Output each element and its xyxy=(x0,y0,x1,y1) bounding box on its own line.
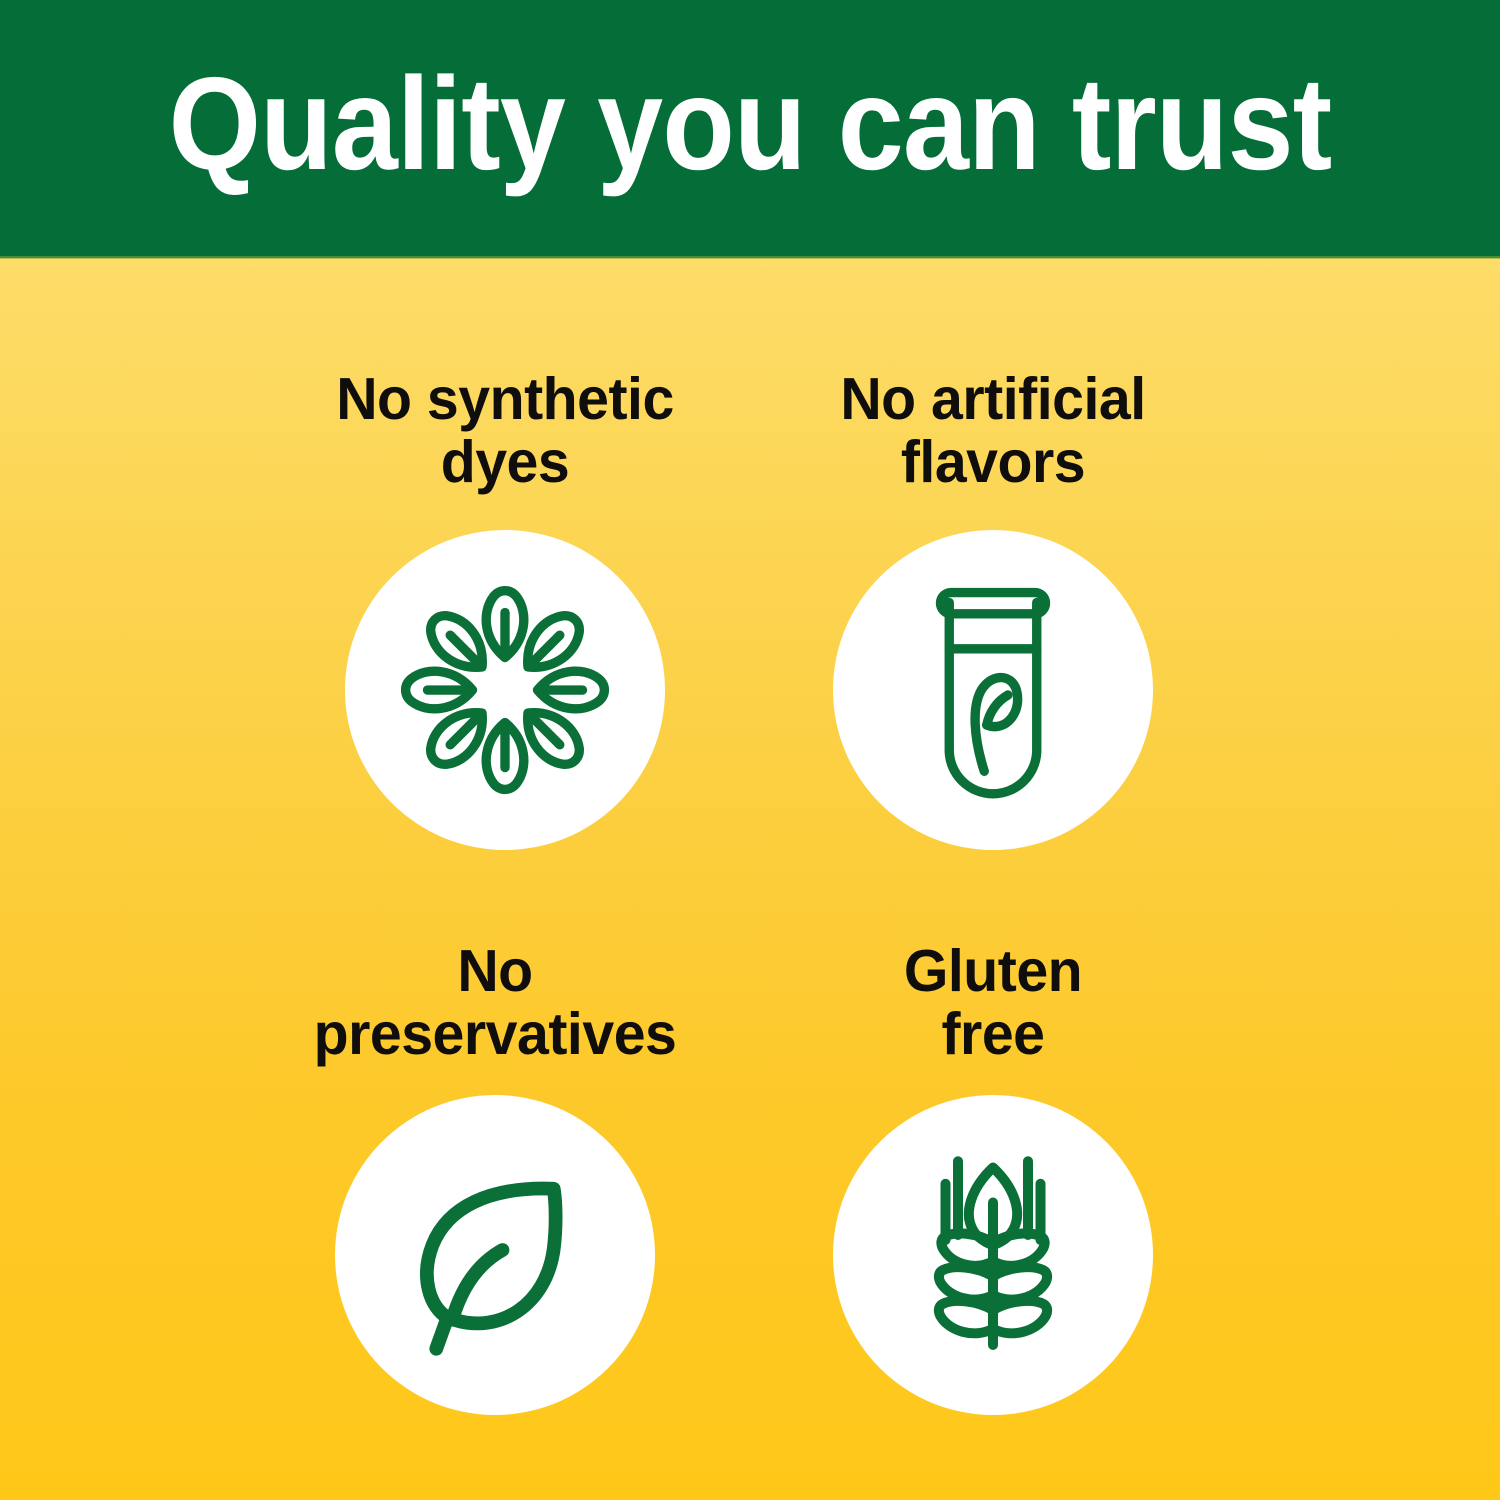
quality-infographic: Quality you can trust No synthetic dyes xyxy=(0,0,1500,1500)
feature-label: Gluten free xyxy=(702,940,1284,1065)
test-tube-leaf-icon xyxy=(868,565,1118,815)
feature-badge xyxy=(833,530,1153,850)
feature-gluten-free: Gluten free xyxy=(693,940,1293,1065)
feature-badge xyxy=(833,1095,1153,1415)
feature-label-line1: Gluten xyxy=(702,940,1284,1003)
page-title: Quality you can trust xyxy=(169,58,1332,200)
feature-badge xyxy=(335,1095,655,1415)
leaf-icon xyxy=(370,1130,620,1380)
header-banner: Quality you can trust xyxy=(0,0,1500,258)
feature-label-line2: flavors xyxy=(702,431,1284,494)
feature-label-line1: No artificial xyxy=(702,368,1284,431)
feature-label: No artificial flavors xyxy=(702,368,1284,493)
dye-petal-burst-icon xyxy=(380,565,630,815)
feature-grid: No synthetic dyes xyxy=(0,258,1500,1500)
wheat-stalk-icon xyxy=(868,1130,1118,1380)
feature-label-line2: free xyxy=(702,1003,1284,1066)
feature-no-artificial-flavors: No artificial flavors xyxy=(693,368,1293,493)
feature-badge xyxy=(345,530,665,850)
